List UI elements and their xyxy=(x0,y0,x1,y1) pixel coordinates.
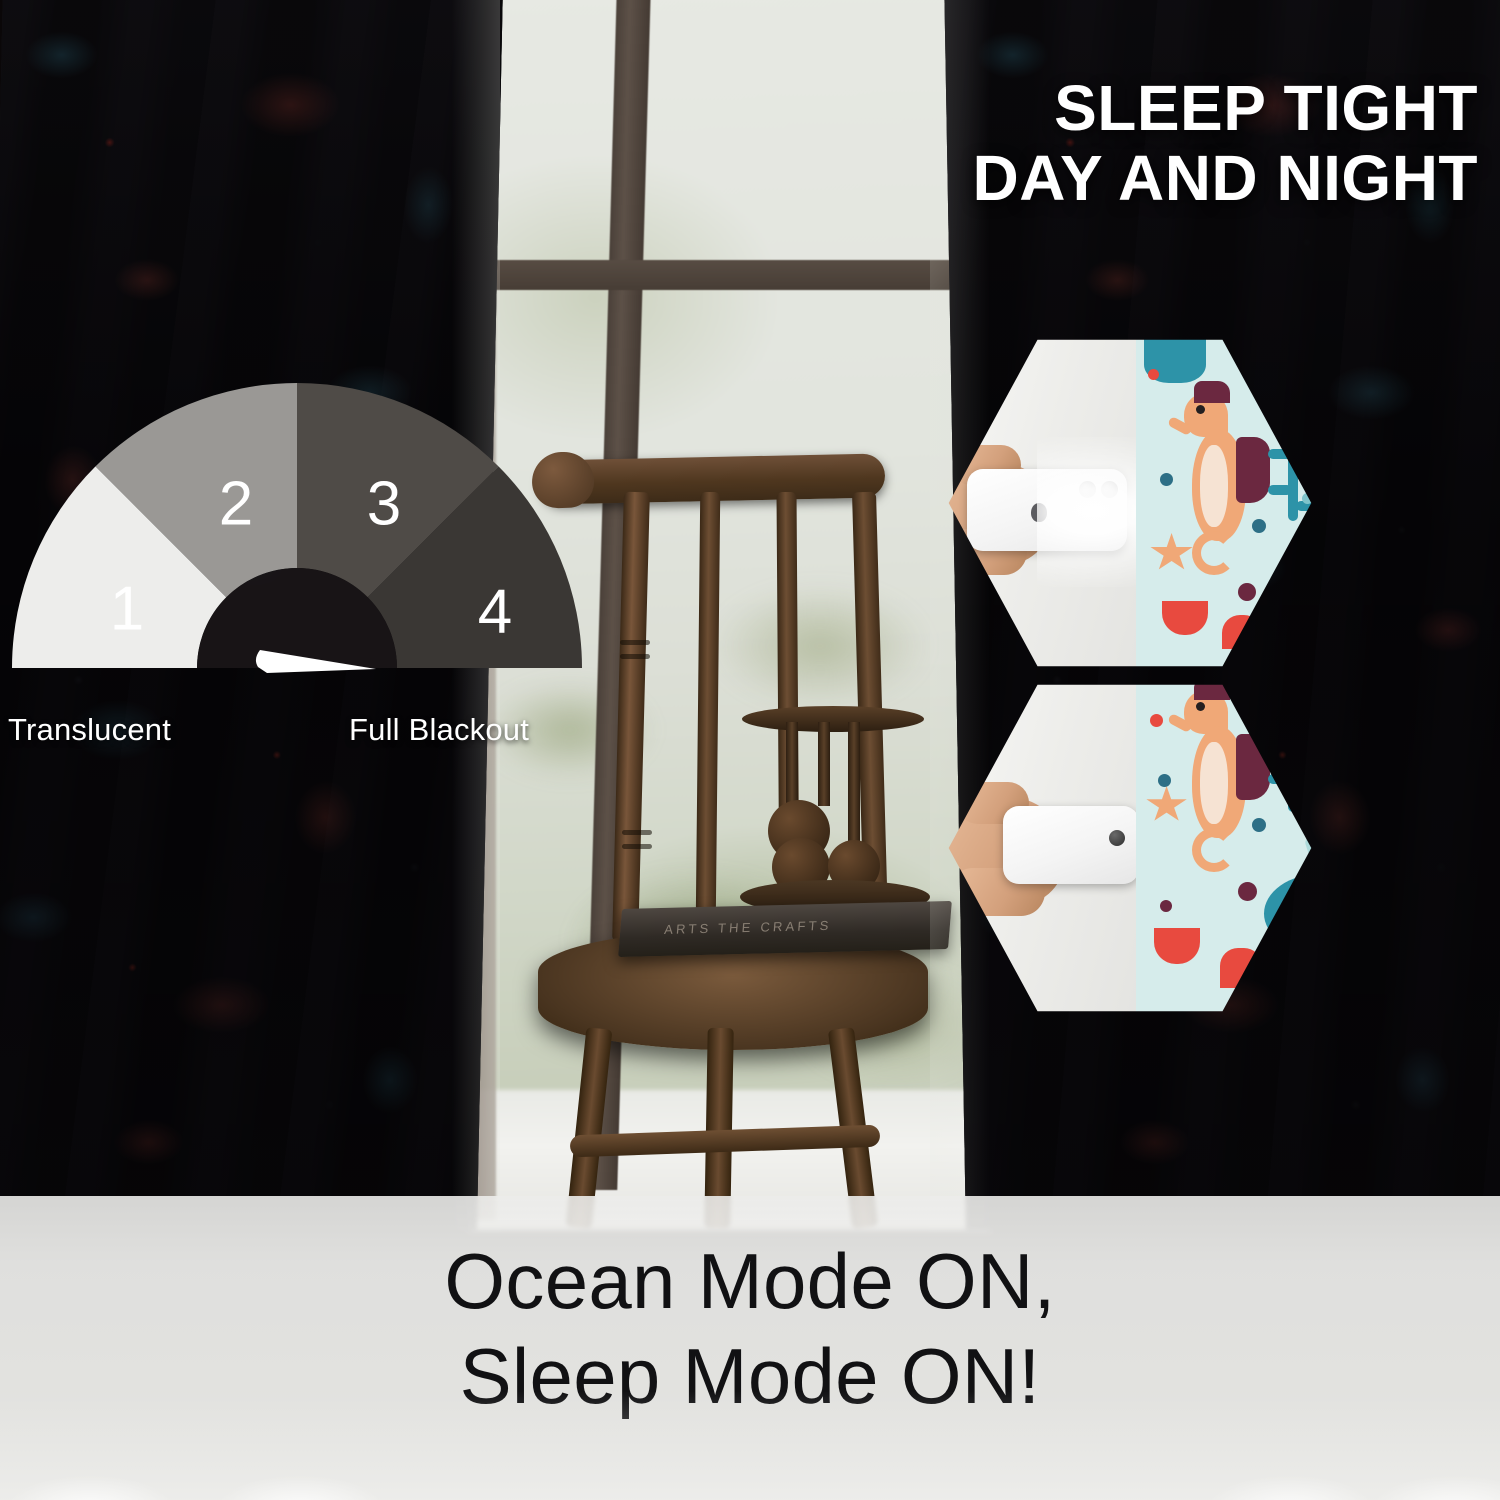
gauge-svg: 1 2 3 4 xyxy=(8,378,586,678)
chair-spindle-ring xyxy=(622,830,652,835)
gauge-number-4: 4 xyxy=(478,577,512,646)
banner-line-1: Ocean Mode ON, xyxy=(0,1234,1500,1329)
chair-spindle-ring xyxy=(620,640,650,645)
window-mullion-horizontal xyxy=(470,260,990,290)
gauge-label-full-blackout: Full Blackout xyxy=(349,712,529,748)
starfish xyxy=(1150,533,1194,573)
brand-logo-icon xyxy=(1031,503,1047,522)
book-title: ARTS THE CRAFTS xyxy=(664,918,833,937)
seahorse-belly xyxy=(1200,742,1228,824)
chair-spindle-ring xyxy=(622,844,652,849)
sculpture-rod xyxy=(848,722,860,844)
camera-lens-icon xyxy=(1109,830,1125,846)
seahorse-tail xyxy=(1192,828,1236,872)
bubble-dot xyxy=(1160,900,1172,912)
chair-spindle xyxy=(696,492,721,922)
sculpture-rod xyxy=(818,722,830,806)
chair-spindle-ring xyxy=(620,654,650,659)
product-marketing-image: ARTS THE CRAFTS SLEEP TIGHT DAY AND NIGH… xyxy=(0,0,1500,1500)
sculpture-top-disc xyxy=(742,706,924,732)
gauge-label-row: Translucent Full Blackout xyxy=(0,712,600,758)
seahorse-eye xyxy=(1196,405,1205,414)
bubble-dot xyxy=(1150,714,1163,727)
gauge-number-1: 1 xyxy=(110,574,144,643)
banner-wave-decoration xyxy=(0,1390,1500,1500)
decor-book: ARTS THE CRAFTS xyxy=(618,901,952,957)
starfish xyxy=(1146,786,1188,824)
smartphone xyxy=(967,469,1127,551)
headline: SLEEP TIGHT DAY AND NIGHT xyxy=(838,74,1478,214)
crab-claw xyxy=(1162,601,1208,635)
seahorse-tail xyxy=(1192,531,1236,575)
gauge-number-2: 2 xyxy=(219,469,253,538)
bubble-dot xyxy=(1158,774,1171,787)
bottom-banner: Ocean Mode ON, Sleep Mode ON! xyxy=(0,1196,1500,1500)
bubble-dot xyxy=(1252,519,1266,533)
chair-spindle xyxy=(612,492,650,943)
bubble-dot xyxy=(1160,473,1173,486)
opacity-level-gauge: 1 2 3 4 xyxy=(8,378,586,678)
gauge-number-3: 3 xyxy=(367,469,401,538)
bubble-dot xyxy=(1252,818,1266,832)
camera-lens-icon xyxy=(1079,481,1096,498)
headline-line-1: SLEEP TIGHT xyxy=(838,74,1478,144)
crab-claw xyxy=(1154,928,1200,964)
bubble-dot xyxy=(1238,882,1257,901)
headline-line-2: DAY AND NIGHT xyxy=(838,144,1478,214)
seahorse-belly xyxy=(1200,445,1228,527)
smartphone xyxy=(1003,806,1139,884)
seahorse-eye xyxy=(1196,702,1205,711)
bubble-dot xyxy=(1238,583,1256,601)
gauge-label-translucent: Translucent xyxy=(8,712,171,748)
seahorse-crest xyxy=(1194,381,1230,403)
bubble-dot xyxy=(1148,369,1159,380)
camera-lens-icon xyxy=(1101,481,1118,498)
seahorse-fin xyxy=(1236,437,1270,503)
